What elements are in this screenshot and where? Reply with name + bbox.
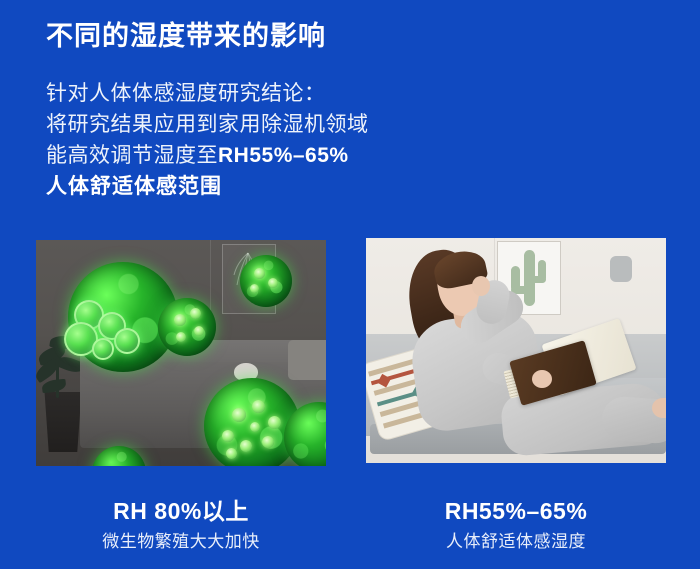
photo-comfort-humidity — [366, 238, 666, 463]
microbe-spore — [250, 422, 260, 432]
body-line-4: 人体舒适体感范围 — [46, 171, 476, 202]
body-line-2: 将研究结果应用到家用除湿机领域 — [46, 109, 476, 140]
caption-title: RH55%–65% — [366, 496, 666, 526]
microbe-spore — [262, 436, 274, 448]
microbe-spore — [176, 332, 186, 342]
wall-speaker-icon — [610, 256, 632, 282]
plant-pot — [42, 392, 84, 452]
microbe-spore — [174, 314, 186, 326]
microbe-spore — [250, 284, 259, 293]
microbe-spore — [268, 278, 278, 288]
plant-stem — [56, 350, 59, 398]
microbe-blob — [92, 338, 114, 360]
caption-subtitle: 人体舒适体感湿度 — [366, 528, 666, 556]
photo-high-humidity — [36, 240, 326, 466]
caption-subtitle: 微生物繁殖大大加快 — [36, 528, 326, 556]
microbe-spore — [254, 268, 265, 279]
microbe-spore — [222, 430, 234, 442]
body-line-1: 针对人体体感湿度研究结论： — [46, 78, 476, 109]
poster-root: 不同的湿度带来的影响 针对人体体感湿度研究结论： 将研究结果应用到家用除湿机领域… — [0, 0, 700, 569]
page-title: 不同的湿度带来的影响 — [46, 18, 326, 54]
hand-holding-book — [532, 370, 552, 388]
sofa-cushion — [288, 340, 326, 380]
microbe-spore — [268, 416, 281, 429]
caption-title: RH 80%以上 — [36, 496, 326, 526]
caption-high-humidity: RH 80%以上 微生物繁殖大大加快 — [36, 496, 326, 556]
hand-at-forehead — [472, 276, 490, 296]
body-line-3-plain: 能高效调节湿度至 — [46, 144, 218, 167]
microbe-sphere-medium — [158, 298, 216, 356]
microbe-spore — [194, 326, 204, 336]
microbe-spore — [252, 400, 265, 413]
microbe-spore — [190, 308, 201, 319]
microbe-blob — [114, 328, 140, 354]
microbe-spore — [226, 448, 237, 459]
cactus-icon — [530, 276, 546, 283]
body-copy: 针对人体体感湿度研究结论： 将研究结果应用到家用除湿机领域 能高效调节湿度至RH… — [46, 78, 476, 202]
body-line-3: 能高效调节湿度至RH55%–65% — [46, 140, 476, 171]
body-line-3-highlight: RH55%–65% — [218, 144, 349, 167]
microbe-spore — [240, 440, 252, 452]
microbe-spore — [232, 408, 246, 422]
caption-comfort-humidity: RH55%–65% 人体舒适体感湿度 — [366, 496, 666, 556]
microbe-sphere-small — [240, 255, 292, 307]
